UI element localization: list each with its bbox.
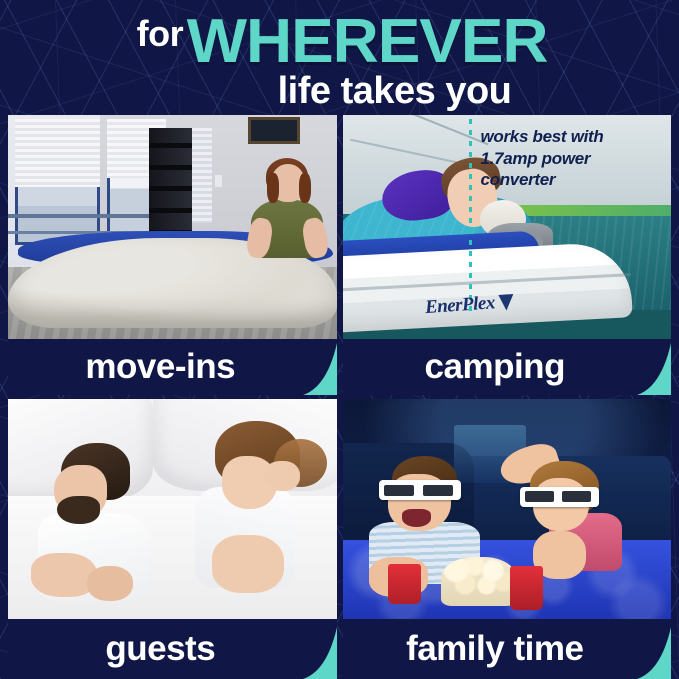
panel-label-camping: camping [425, 347, 565, 387]
window-blind-left [15, 119, 100, 186]
panel-label-guests: guests [105, 629, 215, 669]
headline-main: WHEREVER [187, 6, 548, 77]
corner-accent-triangle-icon [637, 343, 671, 395]
light-switch [215, 175, 222, 187]
red-cup-right [510, 566, 543, 610]
panel-family-time: family time [343, 399, 672, 679]
photo-family-time [343, 399, 672, 619]
headline-subtitle: life takes you [168, 70, 512, 113]
panel-label-move-ins: move-ins [85, 347, 235, 387]
black-shelving-unit [149, 128, 192, 236]
girl-3d-glasses-icon [520, 487, 599, 507]
headline-line-2: life takes you [0, 70, 679, 113]
man-hand [87, 566, 133, 601]
boy-3d-glasses-icon [379, 480, 461, 500]
woman-arm [212, 535, 284, 592]
tent-green-trim [507, 205, 671, 216]
label-bar-guests: guests [8, 619, 337, 679]
corner-accent-triangle-icon [637, 627, 671, 679]
woman-hand [264, 461, 300, 492]
panel-camping: works best with 1.7amp power converter E… [343, 115, 672, 395]
callout-text: works best with 1.7amp power converter [480, 126, 664, 190]
man-beard [57, 496, 100, 525]
woman-hair-strand-left [267, 173, 279, 203]
popcorn-bowl [441, 557, 517, 605]
label-bar-family-time: family time [343, 619, 672, 679]
photo-camping: works best with 1.7amp power converter E… [343, 115, 672, 339]
use-case-grid: move-ins [8, 115, 671, 679]
label-bar-camping: camping [343, 339, 672, 395]
boy-mouth [402, 509, 432, 527]
man-arm [31, 553, 97, 597]
label-bar-move-ins: move-ins [8, 339, 337, 395]
marketing-infographic: forWHEREVER life takes you [0, 0, 679, 679]
red-cup-left [388, 564, 421, 604]
enerplex-chevron-icon [496, 293, 515, 312]
panel-guests: guests [8, 399, 337, 679]
panel-label-family-time: family time [406, 629, 583, 669]
photo-move-ins [8, 115, 337, 339]
window-blind-far [192, 128, 212, 222]
panel-move-ins: move-ins [8, 115, 337, 395]
corner-accent-triangle-icon [303, 343, 337, 395]
wall-picture-frame [248, 117, 301, 144]
dotted-callout-line-icon [469, 119, 472, 312]
balcony-rail [8, 214, 166, 218]
headline-block: forWHEREVER life takes you [0, 0, 679, 115]
headline-prefix: for [137, 13, 184, 55]
woman-hair-strand-right [299, 173, 311, 203]
corner-accent-triangle-icon [303, 627, 337, 679]
headline-line-1: forWHEREVER [0, 6, 679, 77]
photo-guests [8, 399, 337, 619]
